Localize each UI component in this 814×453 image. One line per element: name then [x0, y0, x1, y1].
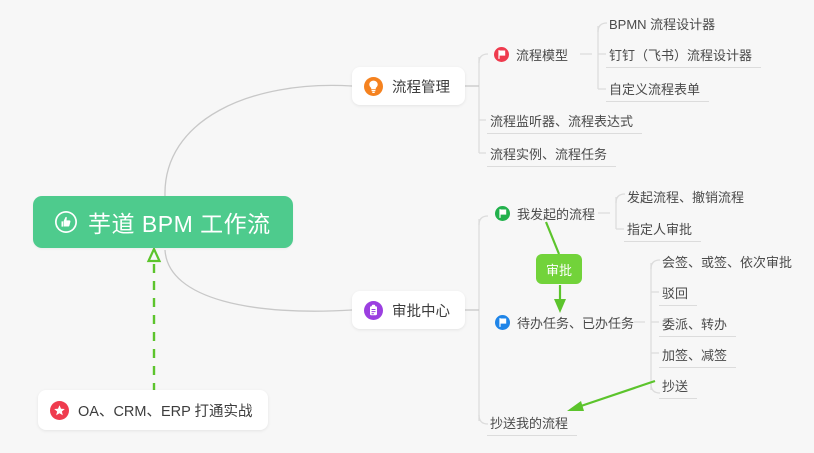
arrow-cc-to-my-cc: [567, 381, 655, 411]
node-process-instance[interactable]: 流程实例、流程任务: [487, 140, 616, 167]
node-countersign[interactable]: 会签、或签、依次审批: [659, 248, 801, 275]
node-label: 会签、或签、依次审批: [662, 252, 792, 271]
node-todo-done-tasks[interactable]: 待办任务、已办任务: [492, 309, 643, 336]
root-label: 芋道 BPM 工作流: [88, 205, 271, 239]
node-cc-to-me[interactable]: 抄送我的流程: [487, 409, 577, 436]
node-label: 钉钉（飞书）流程设计器: [609, 45, 752, 64]
node-bpmn-designer[interactable]: BPMN 流程设计器: [606, 10, 724, 37]
node-process-listener[interactable]: 流程监听器、流程表达式: [487, 107, 642, 134]
thumbs-up-icon: [55, 211, 77, 233]
branch-process-management[interactable]: 流程管理: [352, 67, 465, 105]
root-node[interactable]: 芋道 BPM 工作流: [33, 196, 293, 248]
node-label: 加签、减签: [662, 345, 727, 364]
node-assignee-approval[interactable]: 指定人审批: [624, 215, 701, 242]
node-label: 委派、转办: [662, 314, 727, 333]
node-my-initiated[interactable]: 我发起的流程: [492, 200, 604, 227]
note-label: OA、CRM、ERP 打通实战: [78, 400, 253, 421]
node-process-model[interactable]: 流程模型: [491, 41, 577, 68]
clipboard-icon: [364, 301, 383, 320]
node-label: 流程监听器、流程表达式: [490, 111, 633, 130]
branch-label: 审批中心: [392, 300, 450, 321]
tag-node-approval[interactable]: 审批: [536, 254, 582, 284]
node-label: 流程模型: [516, 45, 568, 64]
node-label: 指定人审批: [627, 219, 692, 238]
flag-icon: [494, 47, 509, 62]
branch-label: 流程管理: [392, 76, 450, 97]
node-label: 发起流程、撤销流程: [627, 187, 744, 206]
flag-icon: [495, 206, 510, 221]
branch-approval-center[interactable]: 审批中心: [352, 291, 465, 329]
node-cc[interactable]: 抄送: [659, 372, 697, 399]
node-label: 我发起的流程: [517, 204, 595, 223]
node-label: 待办任务、已办任务: [517, 313, 634, 332]
node-label: 抄送: [662, 376, 688, 395]
node-label: 流程实例、流程任务: [490, 144, 607, 163]
node-dingtalk-designer[interactable]: 钉钉（飞书）流程设计器: [606, 41, 761, 68]
node-label: 驳回: [662, 283, 688, 302]
mindmap-canvas: 芋道 BPM 工作流 OA、CRM、ERP 打通实战 流程管理: [0, 0, 814, 453]
tag-label: 审批: [546, 260, 572, 279]
lightbulb-icon: [364, 77, 383, 96]
node-label: 抄送我的流程: [490, 413, 568, 432]
wire-root-to-process-management: [165, 85, 352, 196]
node-label: 自定义流程表单: [609, 79, 700, 98]
star-icon: [50, 401, 69, 420]
node-delegate-transfer[interactable]: 委派、转办: [659, 310, 736, 337]
node-start-cancel-process[interactable]: 发起流程、撤销流程: [624, 183, 753, 210]
note-node[interactable]: OA、CRM、ERP 打通实战: [38, 390, 268, 430]
node-label: BPMN 流程设计器: [609, 14, 715, 33]
arrow-note-to-root: [149, 249, 160, 392]
node-custom-form[interactable]: 自定义流程表单: [606, 75, 709, 102]
wire-pm-corner-top: [479, 54, 488, 63]
node-add-remove-sign[interactable]: 加签、减签: [659, 341, 736, 368]
node-reject[interactable]: 驳回: [659, 279, 697, 306]
flag-icon: [495, 315, 510, 330]
wire-ac-corner-top: [479, 216, 488, 225]
wire-root-to-approval-center: [165, 250, 352, 311]
